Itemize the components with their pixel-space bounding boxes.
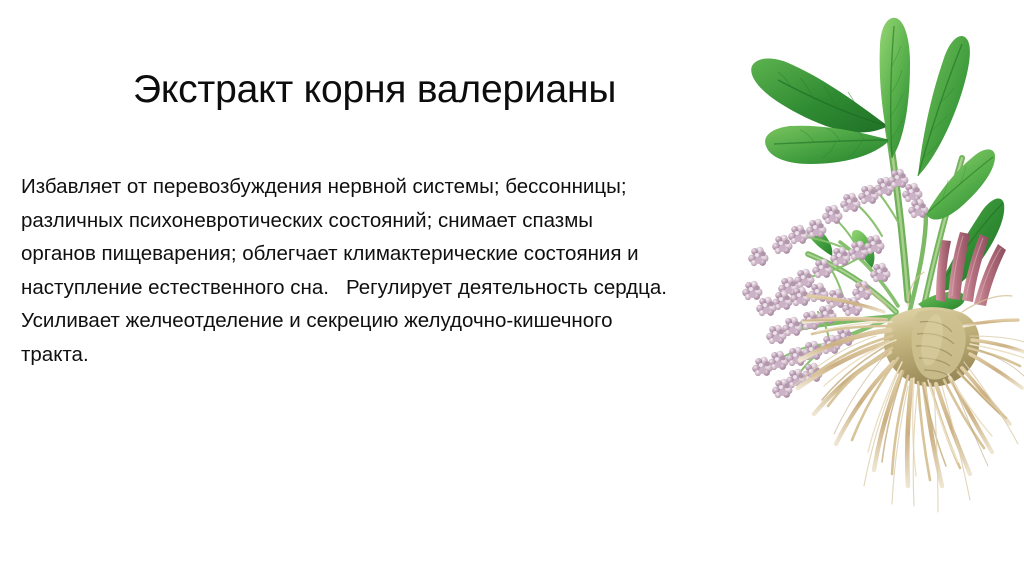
body-line: наступление естественного сна. Регулируе… (21, 271, 733, 305)
valerian-plant-image (712, 0, 1024, 540)
body-line: Усиливает желчеотделение и секрецию желу… (21, 304, 733, 338)
body-line: различных психоневротических состояний; … (21, 204, 733, 238)
body-line: органов пищеварения; облегчает климактер… (21, 237, 733, 271)
presentation-slide: Экстракт корня валерианы Избавляет от пе… (0, 0, 1024, 574)
slide-title: Экстракт корня валерианы (133, 68, 753, 112)
body-line: тракта. (21, 338, 733, 372)
body-line: Избавляет от перевозбуждения нервной сис… (21, 170, 733, 204)
slide-body-text: Избавляет от перевозбуждения нервной сис… (21, 170, 733, 371)
